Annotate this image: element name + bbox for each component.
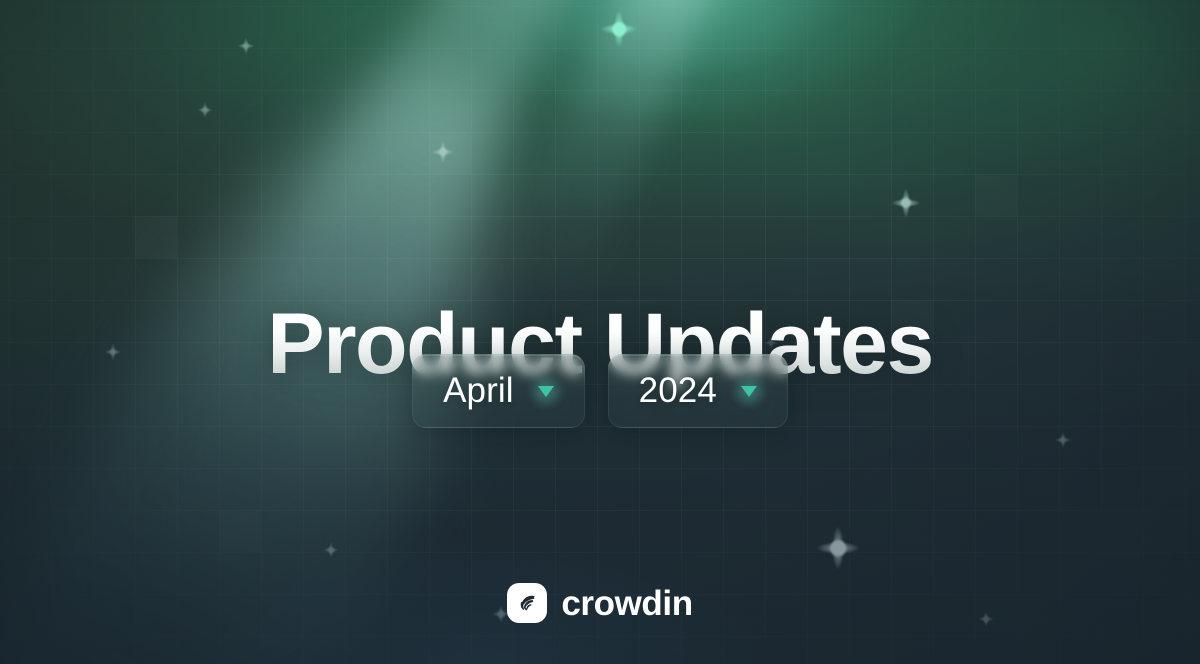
chevron-down-glyph bbox=[538, 386, 554, 397]
crowdin-logo-icon bbox=[507, 583, 547, 623]
chevron-down-glyph bbox=[741, 386, 757, 397]
hero-banner: Product Updates April 2024 bbox=[0, 0, 1200, 664]
chevron-down-icon[interactable] bbox=[530, 375, 562, 407]
year-selector-label: 2024 bbox=[639, 371, 717, 411]
brand-logo[interactable]: crowdin bbox=[0, 583, 1200, 623]
month-selector[interactable]: April bbox=[412, 354, 585, 428]
period-selectors: April 2024 bbox=[0, 354, 1200, 428]
brand-name: crowdin bbox=[561, 586, 692, 621]
month-selector-label: April bbox=[443, 371, 514, 411]
chevron-down-icon[interactable] bbox=[733, 375, 765, 407]
year-selector[interactable]: 2024 bbox=[608, 354, 788, 428]
